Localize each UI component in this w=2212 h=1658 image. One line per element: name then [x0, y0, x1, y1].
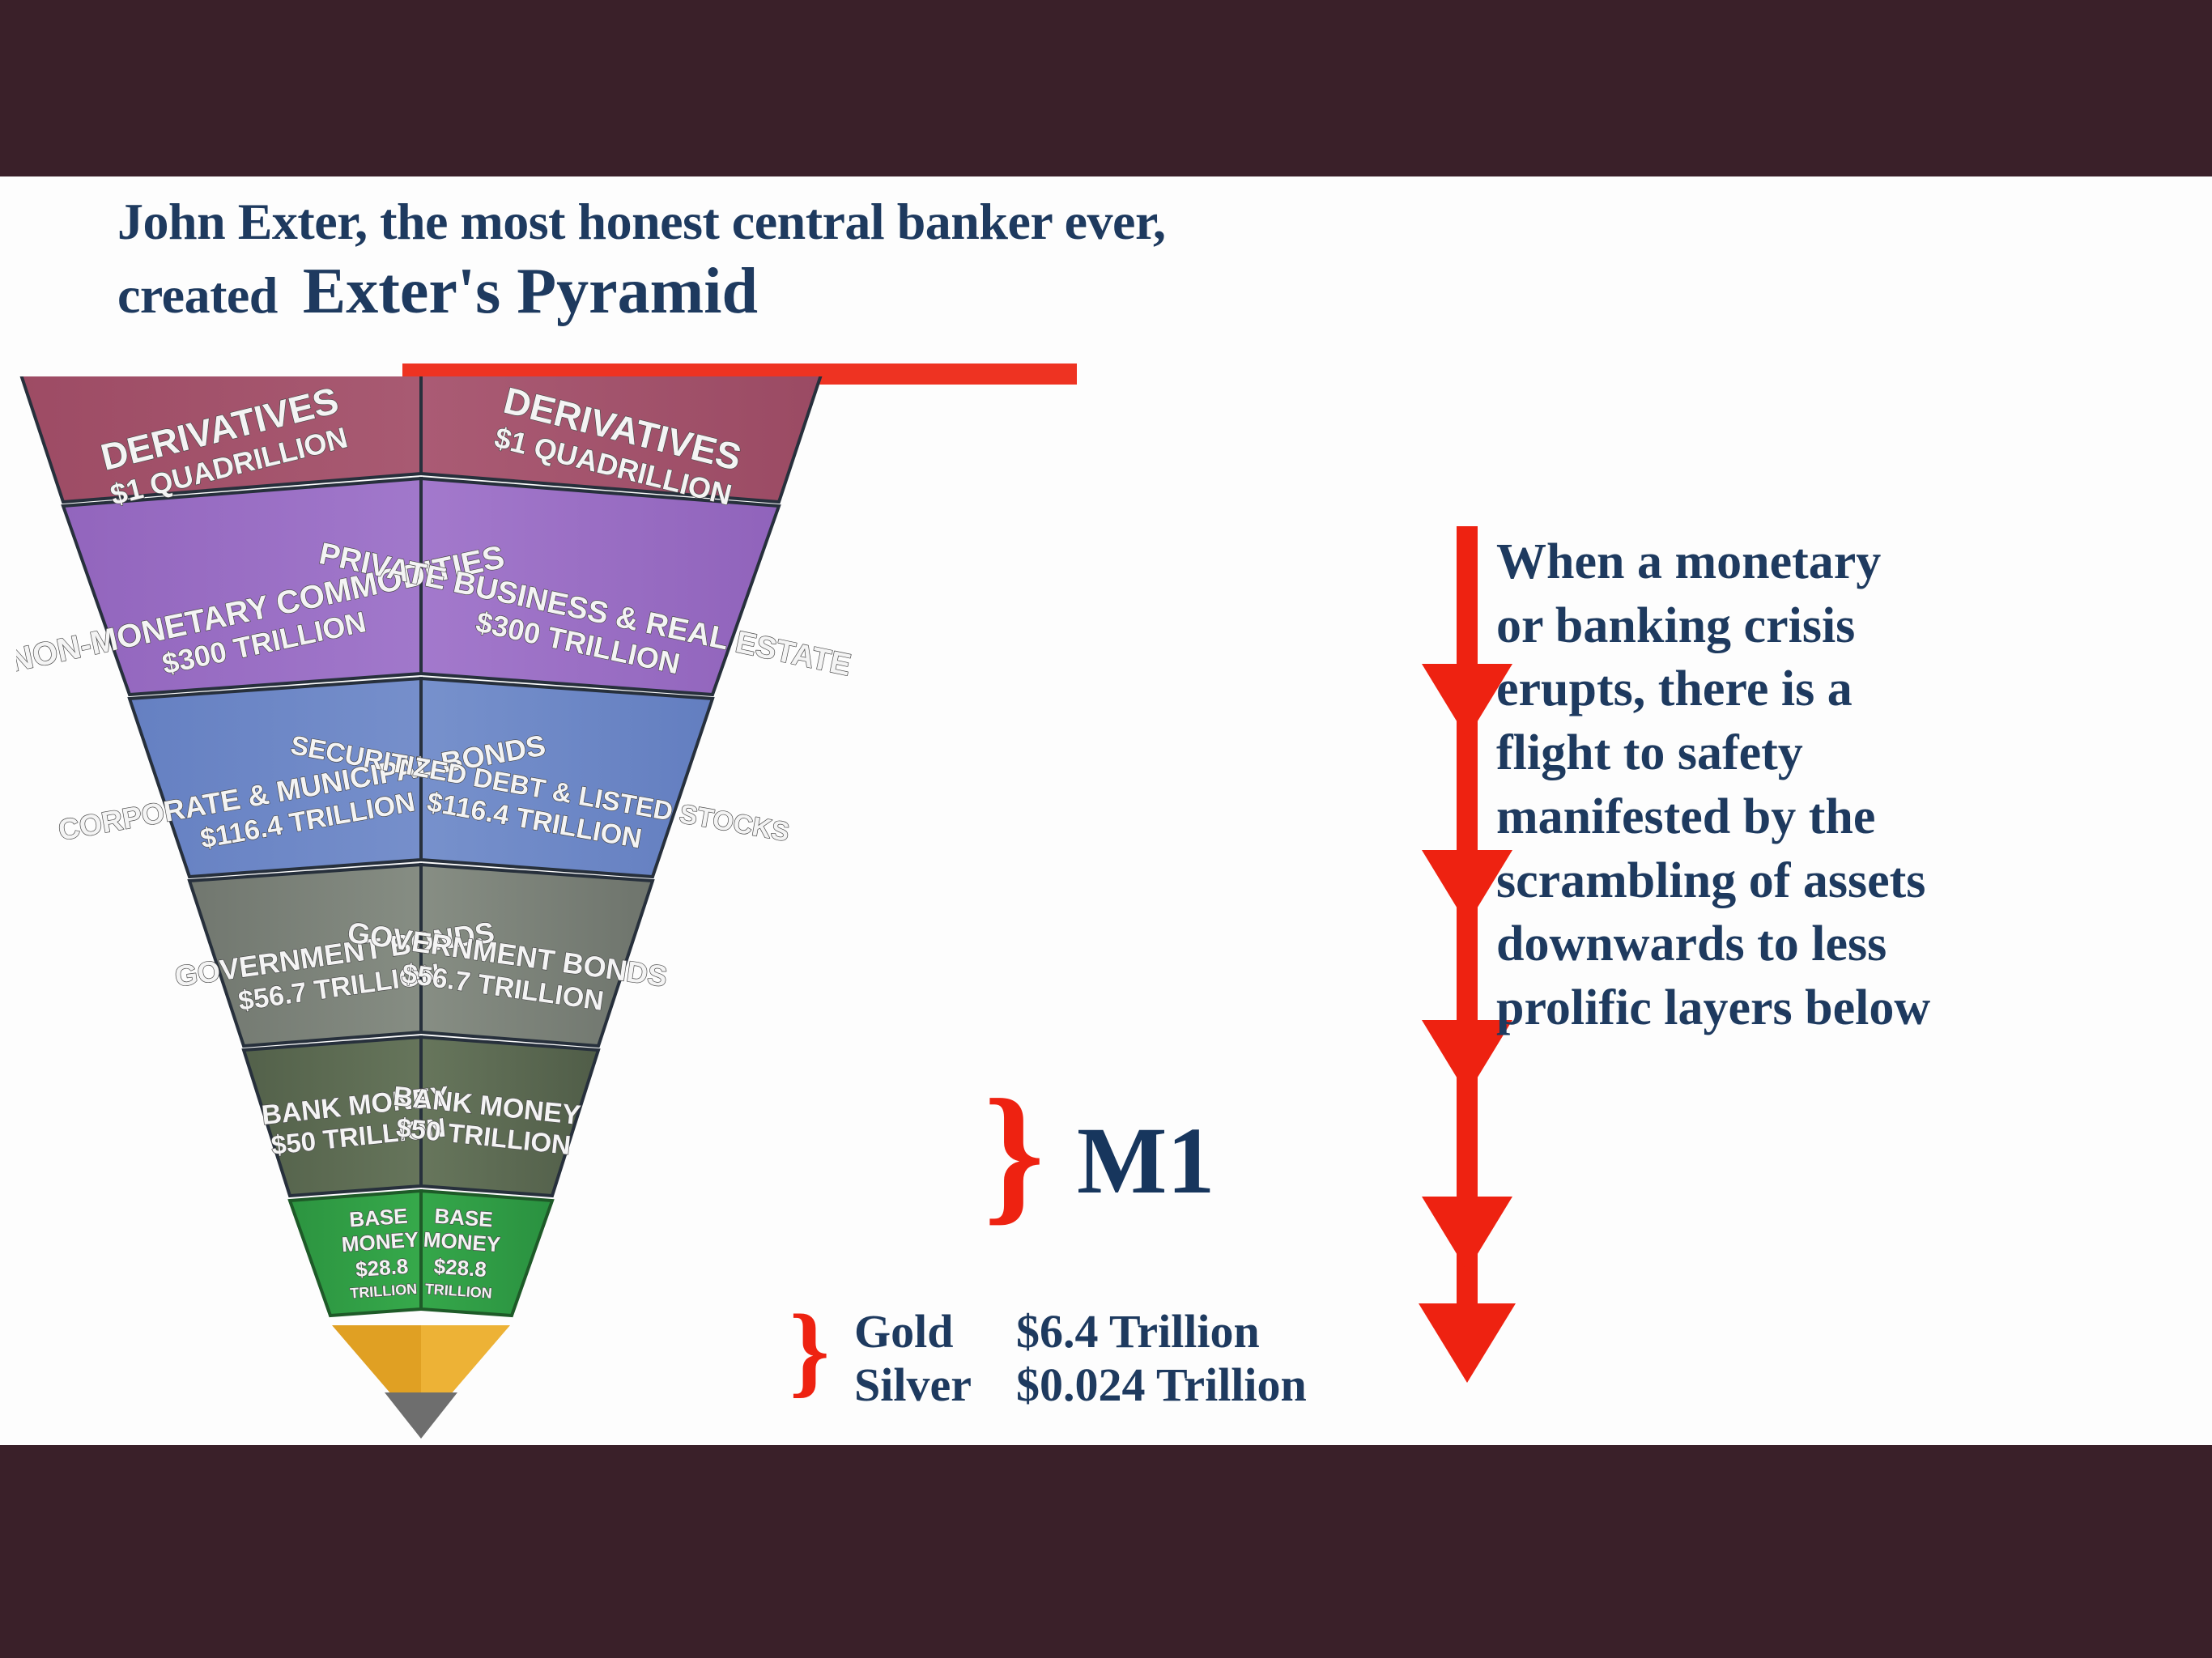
silver-label: Silver	[854, 1358, 1016, 1412]
m1-brace-icon: }	[984, 1077, 1044, 1231]
annotation-line-3: erupts, there is a	[1496, 657, 2212, 721]
precious-metals-rows: Gold $6.4 Trillion Silver $0.024 Trillio…	[854, 1305, 1307, 1412]
title-created-word: created	[117, 266, 278, 324]
gold-label: Gold	[854, 1305, 1016, 1358]
silver-tip	[385, 1392, 457, 1439]
annotation-line-4: flight to safety	[1496, 721, 2212, 785]
silver-value: $0.024 Trillion	[1016, 1358, 1307, 1412]
annotation-line-1: When a monetary	[1496, 530, 2212, 594]
bottom-band	[0, 1445, 2212, 1658]
annotation-line-5: manifested by the	[1496, 785, 2212, 849]
annotation-line-2: or banking crisis	[1496, 594, 2212, 658]
title-line-2: created Exter's Pyramid	[117, 256, 1858, 329]
annotation-paragraph: When a monetary or banking crisis erupts…	[1496, 530, 2212, 1040]
precious-metals-brace-icon: }	[789, 1300, 830, 1402]
pyramid-tip-gold-silver	[332, 1325, 510, 1439]
layer-5-left-value: $28.8	[355, 1254, 409, 1282]
silver-row: Silver $0.024 Trillion	[854, 1358, 1307, 1412]
title-line-1: John Exter, the most honest central bank…	[117, 193, 1858, 251]
annotation-line-7: downwards to less	[1496, 912, 2212, 976]
pyramid-layer-base-money	[290, 1191, 552, 1316]
top-band	[0, 0, 2212, 176]
annotation-line-8: prolific layers below	[1496, 976, 2212, 1040]
m1-label: M1	[1077, 1113, 1214, 1209]
page-title: John Exter, the most honest central bank…	[117, 193, 1858, 328]
gold-row: Gold $6.4 Trillion	[854, 1305, 1307, 1358]
layer-5-right-value: $28.8	[433, 1254, 487, 1282]
annotation-line-6: scrambling of assets	[1496, 849, 2212, 913]
title-exters-pyramid: Exter's Pyramid	[303, 256, 758, 327]
slide-canvas: John Exter, the most honest central bank…	[0, 0, 2212, 1658]
exters-pyramid-diagram: DERIVATIVES $1 QUADRILLION NON-MONETARY …	[16, 376, 1393, 1453]
gold-value: $6.4 Trillion	[1016, 1305, 1260, 1358]
